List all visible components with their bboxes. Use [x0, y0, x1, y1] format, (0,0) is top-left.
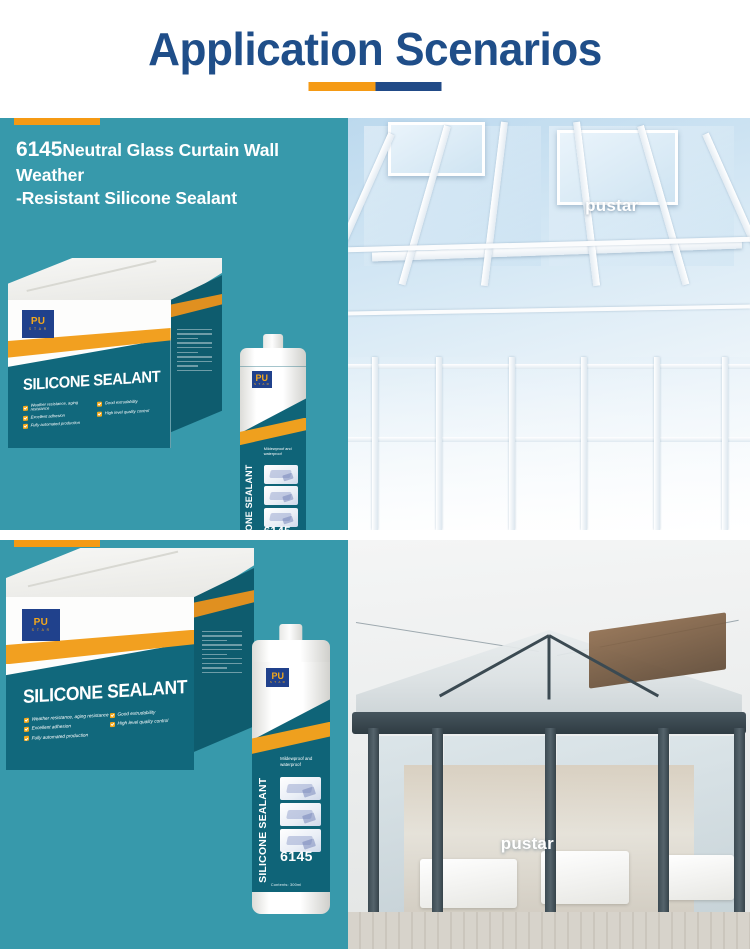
cartridge-model-number: 6145 [264, 526, 291, 530]
page-header: Application Scenarios [0, 0, 750, 118]
watermark-pustar: pustar [585, 196, 638, 216]
check-icon [23, 405, 28, 410]
wall-mullion [581, 357, 587, 530]
cartridge-vertical-title: SILICONE SEALANT [244, 445, 254, 530]
cartridge-label: PU S T A R SILICONE SEALANT Mildewproof … [252, 662, 330, 892]
feature-label: Fully automated production [31, 733, 88, 741]
product-carton-1: PU S T A R SILICONE SEALANT Weather resi… [8, 258, 222, 448]
feature-label: Weather resistance, aging resistance [31, 399, 98, 411]
scenario-card-2: PU S T A R SILICONE SEALANT Weather resi… [0, 540, 750, 949]
logo-pu-text: PU [31, 317, 46, 327]
feature-label: Excellent adhesion [31, 725, 70, 732]
check-icon [24, 718, 29, 723]
feature-bullet: High level quality control [98, 408, 154, 416]
application-illustration [264, 508, 298, 527]
check-icon [98, 411, 103, 416]
wall-mullion [436, 357, 442, 530]
application-illustration [280, 777, 321, 800]
application-illustration [264, 486, 298, 505]
cartridge-model-number: 6145 [280, 848, 313, 864]
cartridge-label: PU S T A R SILICONE SEALANT Mildewproof … [240, 366, 306, 530]
glass-wall-assembly [348, 357, 750, 530]
carton-side-text-lines [177, 329, 212, 375]
carton-front-face: PU S T A R SILICONE SEALANT Weather resi… [8, 300, 171, 448]
feature-label: Good extrudability [117, 711, 155, 718]
watermark-pustar: pustar [501, 834, 554, 854]
scenario-card-1: 6145Neutral Glass Curtain Wall Weather -… [0, 118, 750, 530]
feature-label: High level quality control [117, 719, 168, 727]
feature-label: Excellent adhesion [31, 413, 65, 419]
feature-bullet: Fully automated production [23, 419, 97, 428]
cartridge-subtitle: Mildewproof and waterproof [280, 756, 325, 767]
check-icon [110, 722, 115, 727]
feature-label: Fully automated production [31, 421, 80, 428]
page-title: Application Scenarios [15, 0, 735, 76]
orange-tab-marker [14, 540, 100, 547]
logo-star-text: S T A R [32, 629, 50, 632]
check-icon [23, 423, 28, 428]
pustar-logo-icon: PU S T A R [22, 310, 55, 338]
check-icon [23, 415, 28, 420]
carton-side-face [193, 568, 254, 752]
carton-side-face [170, 275, 222, 433]
product-panel-1: 6145Neutral Glass Curtain Wall Weather -… [0, 118, 348, 530]
scenario-photo-glass-pavilion: pustar [348, 540, 750, 949]
check-icon [98, 401, 103, 406]
feature-bullet: High level quality control [110, 719, 175, 728]
scenario-photo-conservatory-roof: pustar [348, 118, 750, 530]
accent-bar-left-segment [309, 82, 376, 91]
accent-bar-right-segment [375, 82, 442, 91]
card-1-heading: 6145Neutral Glass Curtain Wall Weather -… [16, 136, 346, 210]
product-panel-2: PU S T A R SILICONE SEALANT Weather resi… [0, 540, 348, 949]
wall-mullion [654, 357, 660, 530]
cartridge-vertical-title: SILICONE SEALANT [257, 754, 269, 883]
logo-star-text: S T A R [29, 328, 47, 331]
check-icon [24, 736, 29, 741]
application-illustration [280, 803, 321, 826]
carton-side-orange-stripe [170, 294, 222, 318]
cartridge-application-images [280, 777, 321, 855]
cartridge-body: PU S T A R SILICONE SEALANT Mildewproof … [240, 348, 306, 530]
pavilion-deck-floor [348, 912, 750, 949]
product-cartridge-2: PU S T A R SILICONE SEALANT Mildewproof … [252, 624, 330, 914]
product-carton-2: PU S T A R SILICONE SEALANT Weather resi… [6, 548, 254, 770]
wall-transom [348, 437, 750, 442]
wall-transom [348, 364, 750, 369]
cartridge-body: PU S T A R SILICONE SEALANT Mildewproof … [252, 640, 330, 914]
wall-mullion [509, 357, 515, 530]
cartridge-subtitle: Mildewproof and waterproof [264, 447, 302, 457]
carton-front-face: PU S T A R SILICONE SEALANT Weather resi… [6, 597, 194, 770]
carton-side-orange-stripe [193, 590, 254, 618]
wall-mullion [722, 357, 728, 530]
wall-mullion [372, 357, 378, 530]
card-1-heading-line2: -Resistant Silicone Sealant [16, 188, 237, 208]
card-1-model-number: 6145 [16, 138, 62, 161]
title-accent-bar [309, 82, 442, 91]
check-icon [24, 727, 29, 732]
carton-side-text-lines [202, 631, 242, 677]
pustar-logo-icon: PU S T A R [266, 668, 289, 688]
feature-label: Good extrudability [105, 399, 138, 405]
roof-ridge [548, 636, 551, 700]
logo-star-text: S T A R [270, 681, 286, 684]
feature-bullet: Fully automated production [24, 732, 110, 742]
lounge-furniture [662, 855, 734, 900]
feature-bullet: Excellent adhesion [23, 411, 97, 420]
cartridge-application-images [264, 465, 298, 530]
cartridge-contents-label: Contents: 300ml [271, 882, 302, 887]
application-illustration [264, 465, 298, 484]
check-icon [110, 713, 115, 718]
feature-bullet: Excellent adhesion [24, 722, 110, 732]
logo-star-text: S T A R [254, 383, 270, 386]
feature-bullet: Good extrudability [110, 710, 175, 719]
feature-label: High level quality control [105, 408, 149, 415]
logo-pu-text: PU [34, 618, 49, 628]
pustar-logo-icon: PU S T A R [252, 371, 272, 388]
orange-tab-marker [14, 118, 100, 125]
pustar-logo-icon: PU S T A R [22, 609, 60, 641]
product-cartridge-1: PU S T A R SILICONE SEALANT Mildewproof … [240, 334, 306, 530]
